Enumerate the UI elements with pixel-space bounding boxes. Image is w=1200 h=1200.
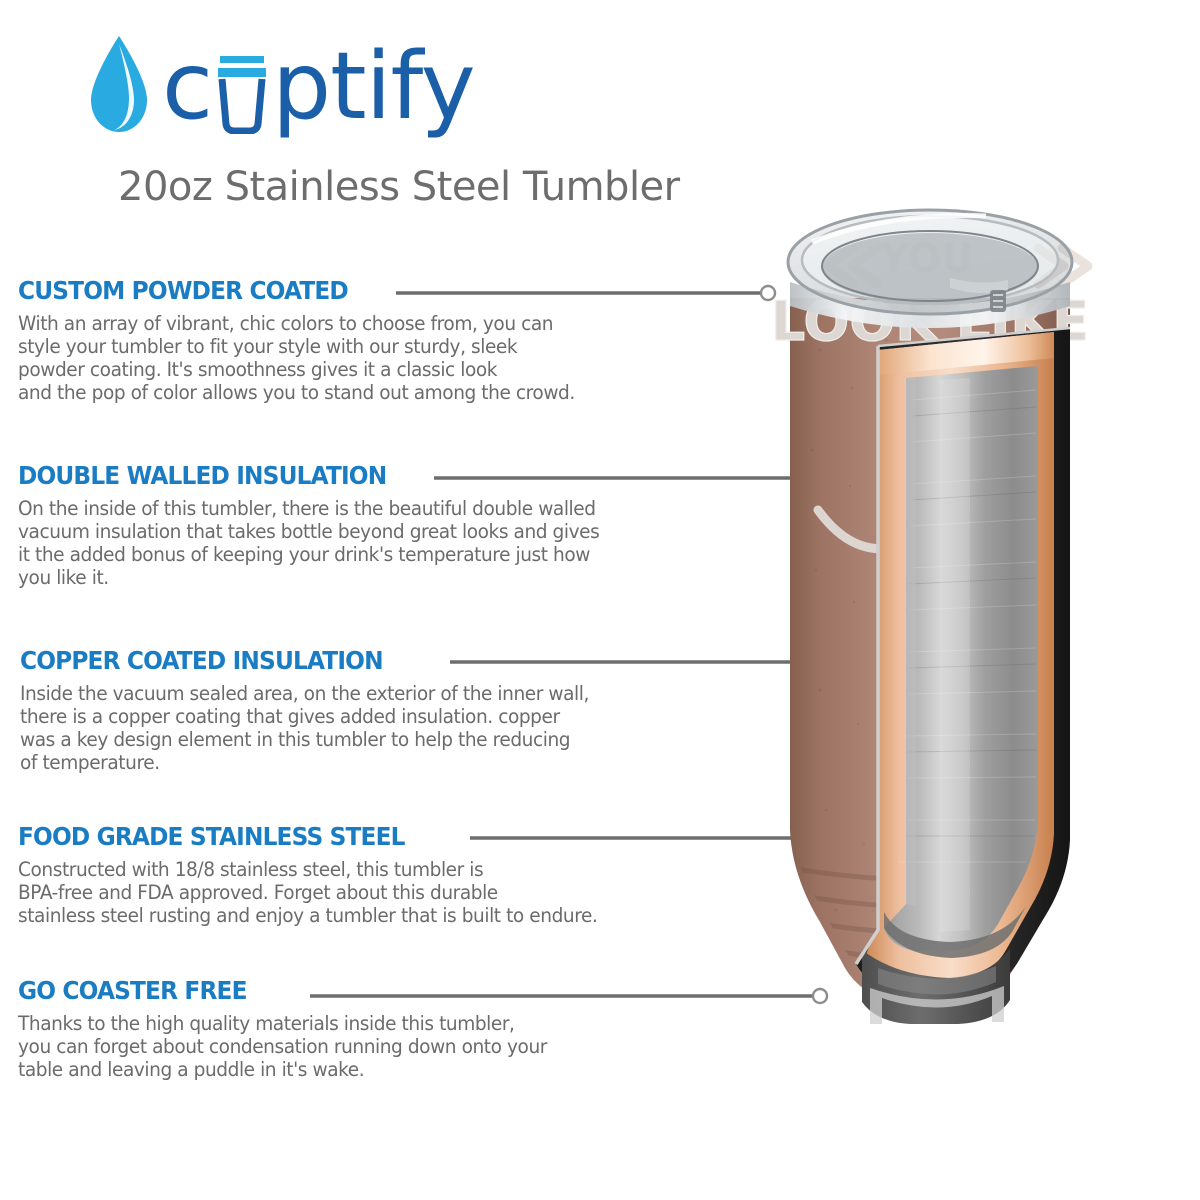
feature-copper-coated-insulation: COPPER COATED INSULATION Inside the vacu… <box>20 646 700 774</box>
tumbler-svg: YOU LOOK LIKE <box>640 150 1200 1050</box>
feature-body: On the inside of this tumbler, there is … <box>18 497 664 589</box>
tumbler-lid <box>788 210 1072 328</box>
brand-wordmark-suffix: ptify <box>272 38 474 134</box>
feature-go-coaster-free: GO COASTER FREE Thanks to the high quali… <box>18 976 698 1081</box>
feature-body: With an array of vibrant, chic colors to… <box>18 312 664 404</box>
feature-title: FOOD GRADE STAINLESS STEEL <box>18 822 650 851</box>
feature-title: COPPER COATED INSULATION <box>20 646 652 675</box>
feature-body: Thanks to the high quality materials ins… <box>18 1012 664 1081</box>
feature-double-walled-insulation: DOUBLE WALLED INSULATION On the inside o… <box>18 461 698 589</box>
tumbler-cutaway-illustration: YOU LOOK LIKE <box>640 150 1200 1050</box>
cutaway-section <box>856 328 1070 1024</box>
feature-title: CUSTOM POWDER COATED <box>18 276 650 305</box>
feature-title: DOUBLE WALLED INSULATION <box>18 461 650 490</box>
brand-logo: c ptify 20oz Stainless Steel Tumbler <box>88 22 648 142</box>
steel-reflection-band <box>940 378 970 932</box>
brand-wordmark-prefix: c <box>162 38 212 134</box>
feature-food-grade-stainless-steel: FOOD GRADE STAINLESS STEEL Constructed w… <box>18 822 698 927</box>
feature-custom-powder-coated: CUSTOM POWDER COATED With an array of vi… <box>18 276 698 404</box>
page-subtitle: 20oz Stainless Steel Tumbler <box>118 164 680 210</box>
feature-title: GO COASTER FREE <box>18 976 650 1005</box>
water-drop-icon <box>88 34 150 134</box>
brand-wordmark: c ptify <box>162 38 475 134</box>
feature-body: Inside the vacuum sealed area, on the ex… <box>20 682 666 774</box>
cup-icon <box>212 38 272 134</box>
feature-body: Constructed with 18/8 stainless steel, t… <box>18 858 664 927</box>
infographic-page: c ptify 20oz Stainless Steel Tumbler CUS… <box>0 0 1200 1200</box>
steel-wall-edge <box>906 377 916 906</box>
